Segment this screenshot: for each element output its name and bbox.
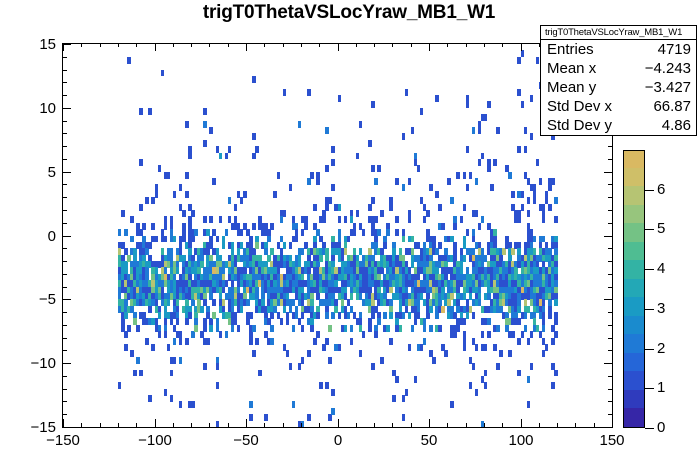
histogram-bin bbox=[173, 236, 177, 243]
y-axis-label: 10 bbox=[12, 100, 56, 117]
histogram-bin bbox=[530, 363, 534, 370]
histogram-bin bbox=[164, 223, 168, 230]
x-tick-minor-top bbox=[228, 43, 229, 47]
histogram-bin bbox=[173, 338, 177, 345]
statistics-box-title: trigT0ThetaVSLocYraw_MB1_W1 bbox=[541, 26, 696, 40]
palette-tick-label: 3 bbox=[657, 301, 665, 316]
histogram-bin bbox=[511, 248, 515, 255]
histogram-bin bbox=[350, 293, 354, 300]
histogram-bin bbox=[405, 389, 409, 396]
histogram-bin bbox=[121, 210, 125, 217]
histogram-bin bbox=[176, 318, 180, 325]
histogram-bin bbox=[356, 153, 360, 160]
statistic-key: Mean x bbox=[547, 59, 596, 78]
histogram-bin bbox=[301, 229, 305, 236]
histogram-bin bbox=[475, 389, 479, 396]
x-tick-minor bbox=[173, 423, 174, 427]
histogram-bin bbox=[356, 210, 360, 217]
y-tick-minor bbox=[63, 210, 67, 211]
histogram-bin bbox=[380, 210, 384, 217]
histogram-bin bbox=[402, 395, 406, 402]
histogram-bin bbox=[209, 216, 213, 223]
histogram-bin bbox=[292, 325, 296, 332]
x-tick-minor bbox=[191, 423, 192, 427]
histogram-bin bbox=[542, 325, 546, 332]
histogram-bin bbox=[392, 395, 396, 402]
palette-band bbox=[624, 204, 644, 223]
histogram-bin bbox=[496, 325, 500, 332]
histogram-bin bbox=[173, 191, 177, 198]
histogram-bin bbox=[310, 172, 314, 179]
histogram-bin bbox=[228, 146, 232, 153]
y-tick-minor bbox=[63, 133, 67, 134]
histogram-bin bbox=[508, 172, 512, 179]
histogram-bin bbox=[530, 95, 534, 102]
histogram-bin bbox=[286, 318, 290, 325]
histogram-bin bbox=[277, 172, 281, 179]
histogram-bin bbox=[191, 331, 195, 338]
histogram-bin bbox=[151, 344, 155, 351]
histogram-bin bbox=[463, 344, 467, 351]
histogram-bin bbox=[124, 331, 128, 338]
histogram-bin bbox=[164, 236, 168, 243]
histogram-bin bbox=[209, 325, 213, 332]
histogram-bin bbox=[139, 108, 143, 115]
histogram-bin bbox=[469, 382, 473, 389]
histogram-bin bbox=[536, 57, 540, 64]
histogram-bin bbox=[331, 159, 335, 166]
x-tick-minor bbox=[264, 423, 265, 427]
palette-tick bbox=[645, 229, 654, 230]
histogram-bin bbox=[383, 312, 387, 319]
histogram-bin bbox=[374, 216, 378, 223]
histogram-bin bbox=[325, 338, 329, 345]
histogram-bin bbox=[316, 312, 320, 319]
histogram-bin bbox=[252, 153, 256, 160]
histogram-bin bbox=[395, 229, 399, 236]
histogram-bin bbox=[142, 223, 146, 230]
palette-band bbox=[624, 352, 644, 371]
histogram-bin bbox=[426, 312, 430, 319]
histogram-bin bbox=[499, 350, 503, 357]
x-tick-major bbox=[155, 419, 156, 427]
y-tick-minor bbox=[63, 146, 67, 147]
histogram-bin bbox=[222, 242, 226, 249]
histogram-bin bbox=[347, 312, 351, 319]
histogram-bin bbox=[182, 210, 186, 217]
y-tick-minor-right bbox=[608, 261, 612, 262]
y-tick-major bbox=[63, 427, 71, 428]
palette-band bbox=[624, 408, 644, 427]
histogram-bin bbox=[203, 325, 207, 332]
histogram-bin bbox=[280, 318, 284, 325]
statistics-box[interactable]: trigT0ThetaVSLocYraw_MB1_W1 Entries4719M… bbox=[540, 25, 697, 136]
histogram-bin bbox=[240, 306, 244, 313]
y-tick-minor-right bbox=[608, 414, 612, 415]
y-tick-major-right bbox=[604, 236, 612, 237]
histogram-bin bbox=[246, 299, 250, 306]
histogram-bin bbox=[405, 89, 409, 96]
histogram-bin bbox=[216, 421, 220, 427]
histogram-bin bbox=[551, 338, 555, 345]
histogram-bin bbox=[194, 229, 198, 236]
histogram-bin bbox=[118, 229, 122, 236]
histogram-bin bbox=[185, 172, 189, 179]
x-tick-minor-top bbox=[191, 43, 192, 47]
palette-tick-label: 5 bbox=[657, 221, 665, 236]
histogram-bin bbox=[191, 210, 195, 217]
x-tick-minor-top bbox=[81, 43, 82, 47]
x-axis-label: 150 bbox=[582, 432, 642, 449]
x-tick-minor-top bbox=[374, 43, 375, 47]
histogram-bin bbox=[554, 197, 558, 204]
histogram-bin bbox=[347, 236, 351, 243]
histogram-bin bbox=[402, 133, 406, 140]
y-tick-minor-right bbox=[608, 350, 612, 351]
histogram-bin bbox=[469, 172, 473, 179]
histogram-bin bbox=[432, 357, 436, 364]
histogram-bin bbox=[185, 318, 189, 325]
y-tick-minor-right bbox=[608, 287, 612, 288]
x-tick-minor bbox=[136, 423, 137, 427]
y-tick-minor bbox=[63, 325, 67, 326]
histogram-bin bbox=[524, 127, 528, 134]
histogram-bin bbox=[167, 344, 171, 351]
y-tick-minor-right bbox=[608, 312, 612, 313]
y-tick-major bbox=[63, 299, 71, 300]
histogram-bin bbox=[158, 312, 162, 319]
statistic-value: −4.243 bbox=[645, 59, 691, 78]
x-axis-label: −50 bbox=[216, 432, 276, 449]
histogram-bin bbox=[478, 127, 482, 134]
histogram-bin bbox=[158, 331, 162, 338]
x-tick-minor-top bbox=[356, 43, 357, 47]
y-tick-minor-right bbox=[608, 223, 612, 224]
histogram-bin bbox=[191, 236, 195, 243]
histogram-bin bbox=[554, 318, 558, 325]
statistic-row: Std Dev x66.87 bbox=[541, 97, 696, 116]
y-tick-minor-right bbox=[608, 197, 612, 198]
histogram-bin bbox=[124, 344, 128, 351]
x-tick-minor bbox=[356, 423, 357, 427]
histogram-bin bbox=[444, 350, 448, 357]
histogram-bin bbox=[200, 306, 204, 313]
statistic-value: −3.427 bbox=[645, 78, 691, 97]
histogram-bin bbox=[206, 338, 210, 345]
y-tick-minor-right bbox=[608, 210, 612, 211]
histogram-bin bbox=[533, 236, 537, 243]
histogram-bin bbox=[511, 331, 515, 338]
histogram-bin bbox=[158, 165, 162, 172]
histogram-bin bbox=[408, 216, 412, 223]
histogram-bin bbox=[456, 325, 460, 332]
histogram-bin bbox=[130, 350, 134, 357]
histogram-bin bbox=[133, 370, 137, 377]
histogram-bin bbox=[460, 216, 464, 223]
histogram-bin bbox=[179, 401, 183, 408]
palette-tick-label: 0 bbox=[657, 420, 665, 435]
histogram-bin bbox=[472, 127, 476, 134]
histogram-bin bbox=[307, 178, 311, 185]
histogram-bin bbox=[118, 382, 122, 389]
y-tick-minor bbox=[63, 223, 67, 224]
histogram-bin bbox=[521, 204, 525, 211]
histogram-bin bbox=[521, 50, 525, 57]
histogram-bin bbox=[524, 325, 528, 332]
histogram-bin bbox=[521, 101, 525, 108]
histogram-bin bbox=[289, 242, 293, 249]
histogram-bin bbox=[542, 350, 546, 357]
histogram-bin bbox=[527, 197, 531, 204]
histogram-bin bbox=[148, 306, 152, 313]
histogram-bin bbox=[438, 204, 442, 211]
histogram-bin bbox=[331, 389, 335, 396]
histogram-bin bbox=[179, 338, 183, 345]
x-tick-major bbox=[338, 419, 339, 427]
histogram-bin bbox=[395, 376, 399, 383]
histogram-bin bbox=[219, 153, 223, 160]
histogram-bin bbox=[240, 229, 244, 236]
histogram-bin bbox=[148, 108, 152, 115]
y-axis-label: −15 bbox=[12, 419, 56, 436]
histogram-bin bbox=[536, 159, 540, 166]
histogram-bin bbox=[380, 357, 384, 364]
x-tick-minor bbox=[209, 423, 210, 427]
histogram-bin bbox=[545, 344, 549, 351]
histogram-bin bbox=[551, 382, 555, 389]
histogram-bin bbox=[463, 318, 467, 325]
palette-band bbox=[624, 185, 644, 204]
y-tick-minor bbox=[63, 57, 67, 58]
y-tick-minor bbox=[63, 401, 67, 402]
histogram-bin bbox=[371, 312, 375, 319]
y-tick-minor-right bbox=[608, 401, 612, 402]
x-tick-major-top bbox=[246, 43, 247, 51]
histogram-bin bbox=[450, 197, 454, 204]
histogram-bin bbox=[179, 357, 183, 364]
histogram-bin bbox=[527, 376, 531, 383]
histogram-bin bbox=[322, 216, 326, 223]
histogram-bin bbox=[453, 223, 457, 230]
histogram-bin bbox=[191, 401, 195, 408]
histogram-bin bbox=[493, 344, 497, 351]
x-tick-minor bbox=[118, 423, 119, 427]
histogram-bin bbox=[420, 344, 424, 351]
histogram-bin bbox=[502, 248, 506, 255]
histogram-bin bbox=[167, 299, 171, 306]
x-tick-minor bbox=[484, 423, 485, 427]
histogram-bin bbox=[331, 146, 335, 153]
y-tick-major-right bbox=[604, 363, 612, 364]
histogram-plot-area[interactable] bbox=[63, 44, 612, 427]
histogram-bin bbox=[301, 325, 305, 332]
histogram-bin bbox=[185, 191, 189, 198]
x-tick-minor bbox=[228, 423, 229, 427]
histogram-bin bbox=[386, 229, 390, 236]
histogram-bin bbox=[402, 312, 406, 319]
histogram-bin bbox=[389, 338, 393, 345]
histogram-bin bbox=[527, 401, 531, 408]
x-tick-minor-top bbox=[283, 43, 284, 47]
histogram-bin bbox=[216, 236, 220, 243]
histogram-bin bbox=[441, 223, 445, 230]
x-tick-minor-top bbox=[484, 43, 485, 47]
x-tick-major bbox=[246, 419, 247, 427]
histogram-bin bbox=[487, 331, 491, 338]
histogram-bin bbox=[353, 229, 357, 236]
y-axis-label: 0 bbox=[12, 228, 56, 245]
root-canvas: trigT0ThetaVSLocYraw_MB1_W1 −150−100−500… bbox=[0, 0, 698, 476]
histogram-bin bbox=[325, 165, 329, 172]
histogram-bin bbox=[466, 184, 470, 191]
histogram-bin bbox=[243, 191, 247, 198]
statistic-key: Entries bbox=[547, 40, 594, 59]
histogram-bin bbox=[209, 127, 213, 134]
palette-tick-label: 1 bbox=[657, 380, 665, 395]
palette-tick bbox=[645, 309, 654, 310]
histogram-bin bbox=[350, 325, 354, 332]
histogram-bin bbox=[338, 312, 342, 319]
histogram-bin bbox=[203, 363, 207, 370]
x-tick-minor-top bbox=[100, 43, 101, 47]
histogram-bin bbox=[402, 414, 406, 421]
histogram-bin bbox=[170, 370, 174, 377]
palette-tick-label: 4 bbox=[657, 261, 665, 276]
histogram-bin bbox=[377, 318, 381, 325]
histogram-bin bbox=[328, 197, 332, 204]
histogram-bin bbox=[167, 172, 171, 179]
y-tick-minor-right bbox=[608, 325, 612, 326]
palette-tick-label: 6 bbox=[657, 182, 665, 197]
y-tick-minor-right bbox=[608, 248, 612, 249]
x-tick-minor-top bbox=[173, 43, 174, 47]
histogram-bin bbox=[377, 229, 381, 236]
histogram-bin bbox=[395, 178, 399, 185]
histogram-bin bbox=[362, 229, 366, 236]
palette-band bbox=[624, 278, 644, 297]
histogram-bin bbox=[429, 306, 433, 313]
histogram-bin bbox=[371, 197, 375, 204]
histogram-bin bbox=[267, 236, 271, 243]
histogram-bin bbox=[548, 312, 552, 319]
x-axis-label: 50 bbox=[399, 432, 459, 449]
statistic-value: 4719 bbox=[658, 40, 691, 59]
histogram-bin bbox=[307, 89, 311, 96]
y-tick-major bbox=[63, 236, 71, 237]
y-tick-minor-right bbox=[608, 376, 612, 377]
histogram-bin bbox=[395, 216, 399, 223]
histogram-bin bbox=[511, 191, 515, 198]
y-tick-minor bbox=[63, 312, 67, 313]
y-tick-minor-right bbox=[608, 159, 612, 160]
x-tick-minor bbox=[301, 423, 302, 427]
histogram-bin bbox=[164, 389, 168, 396]
histogram-bin bbox=[389, 312, 393, 319]
x-tick-minor bbox=[100, 423, 101, 427]
histogram-bin bbox=[517, 338, 521, 345]
histogram-bin bbox=[255, 338, 259, 345]
y-tick-minor bbox=[63, 274, 67, 275]
x-tick-minor-top bbox=[502, 43, 503, 47]
histogram-bin bbox=[517, 216, 521, 223]
palette-band bbox=[624, 167, 644, 186]
y-tick-minor bbox=[63, 159, 67, 160]
histogram-bin bbox=[155, 236, 159, 243]
y-tick-minor bbox=[63, 82, 67, 83]
x-tick-minor-top bbox=[447, 43, 448, 47]
histogram-bin bbox=[301, 357, 305, 364]
histogram-bin bbox=[283, 89, 287, 96]
histogram-bin bbox=[338, 344, 342, 351]
histogram-bin bbox=[524, 312, 528, 319]
histogram-bin bbox=[325, 127, 329, 134]
histogram-bin bbox=[289, 363, 293, 370]
histogram-bin bbox=[527, 210, 531, 217]
histogram-bin bbox=[316, 178, 320, 185]
histogram-bin bbox=[301, 312, 305, 319]
histogram-bin bbox=[548, 204, 552, 211]
histogram-bin bbox=[139, 204, 143, 211]
palette-band bbox=[624, 371, 644, 390]
y-tick-minor bbox=[63, 184, 67, 185]
histogram-bin bbox=[399, 325, 403, 332]
y-tick-minor-right bbox=[608, 338, 612, 339]
palette-tick bbox=[645, 349, 654, 350]
histogram-bin bbox=[283, 242, 287, 249]
histogram-bin bbox=[493, 159, 497, 166]
x-tick-major bbox=[521, 419, 522, 427]
histogram-bin bbox=[270, 338, 274, 345]
histogram-bin bbox=[216, 363, 220, 370]
statistic-row: Std Dev y4.86 bbox=[541, 116, 696, 135]
histogram-bin bbox=[145, 197, 149, 204]
x-tick-minor bbox=[594, 423, 595, 427]
histogram-bin bbox=[484, 382, 488, 389]
histogram-bin bbox=[270, 312, 274, 319]
y-tick-major-right bbox=[604, 172, 612, 173]
histogram-bin bbox=[212, 299, 216, 306]
palette-tick-label: 2 bbox=[657, 341, 665, 356]
palette-band bbox=[624, 150, 644, 168]
y-tick-major-right bbox=[604, 299, 612, 300]
histogram-bin bbox=[374, 331, 378, 338]
palette-band bbox=[624, 315, 644, 334]
histogram-bin bbox=[273, 191, 277, 198]
histogram-bin bbox=[435, 191, 439, 198]
histogram-bin bbox=[466, 312, 470, 319]
histogram-bin bbox=[429, 184, 433, 191]
histogram-bin bbox=[481, 331, 485, 338]
histogram-bin bbox=[130, 216, 134, 223]
histogram-bin bbox=[429, 325, 433, 332]
histogram-bin bbox=[228, 197, 232, 204]
palette-tick bbox=[645, 190, 654, 191]
histogram-bin bbox=[280, 216, 284, 223]
histogram-bin bbox=[456, 172, 460, 179]
y-tick-major bbox=[63, 363, 71, 364]
histogram-bin bbox=[252, 350, 256, 357]
histogram-bin bbox=[310, 325, 314, 332]
histogram-bin bbox=[524, 146, 528, 153]
histogram-bin bbox=[338, 216, 342, 223]
histogram-bin bbox=[386, 325, 390, 332]
histogram-bin bbox=[484, 344, 488, 351]
histogram-bin bbox=[252, 133, 256, 140]
histogram-bin bbox=[151, 197, 155, 204]
y-tick-minor bbox=[63, 121, 67, 122]
histogram-bin bbox=[435, 95, 439, 102]
page-title: trigT0ThetaVSLocYraw_MB1_W1 bbox=[0, 2, 698, 24]
